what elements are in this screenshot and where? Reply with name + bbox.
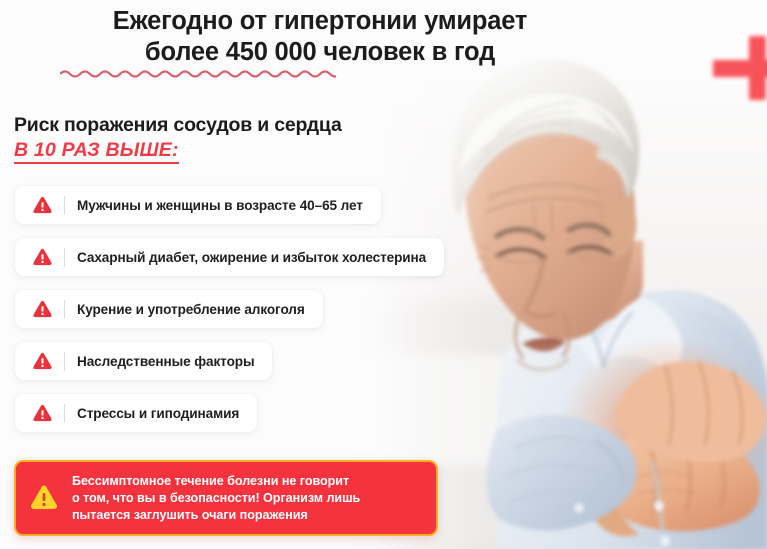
warning-triangle-icon (32, 403, 53, 424)
divider (64, 404, 65, 423)
list-item-label: Наследственные факторы (77, 354, 254, 369)
divider (64, 300, 65, 319)
warning-banner-text: Бессимптомное течение болезни не говорит… (72, 473, 360, 524)
divider (64, 196, 65, 215)
medical-cross-icon (713, 36, 767, 100)
banner-line-3: пытается заглушить очаги поражения (72, 508, 308, 522)
warning-triangle-icon (32, 247, 53, 268)
list-item[interactable]: Стрессы и гиподинамия (15, 394, 257, 432)
warning-banner: Бессимптомное течение болезни не говорит… (14, 460, 438, 536)
banner-line-1: Бессимптомное течение болезни не говорит (72, 474, 349, 488)
list-item-label: Сахарный диабет, ожирение и избыток холе… (77, 250, 426, 265)
headline-line-2: более 450 000 человек в год (145, 38, 495, 66)
list-item[interactable]: Сахарный диабет, ожирение и избыток холе… (15, 238, 444, 276)
list-item[interactable]: Наследственные факторы (15, 342, 272, 380)
page-title: Ежегодно от гипертонии умирает более 450… (0, 6, 640, 68)
subtitle: Риск поражения сосудов и сердца В 10 РАЗ… (14, 113, 344, 163)
risk-factor-list: Мужчины и женщины в возрасте 40–65 лет С… (15, 186, 444, 446)
warning-triangle-icon (32, 299, 53, 320)
subtitle-highlight: В 10 РАЗ ВЫШЕ: (14, 139, 179, 164)
divider (64, 352, 65, 371)
headline-line-1: Ежегодно от гипертонии умирает (113, 7, 527, 35)
list-item-label: Стрессы и гиподинамия (77, 406, 239, 421)
list-item-label: Мужчины и женщины в возрасте 40–65 лет (77, 198, 363, 213)
banner-line-2: о том, что вы в безопасности! Организм л… (72, 491, 360, 505)
list-item[interactable]: Мужчины и женщины в возрасте 40–65 лет (15, 186, 381, 224)
list-item[interactable]: Курение и употребление алкоголя (15, 290, 323, 328)
warning-triangle-icon (32, 351, 53, 372)
wavy-underline-icon (60, 69, 336, 78)
subtitle-text: Риск поражения сосудов и сердца (14, 114, 342, 136)
divider (64, 248, 65, 267)
warning-triangle-icon (32, 195, 53, 216)
list-item-label: Курение и употребление алкоголя (77, 302, 305, 317)
warning-triangle-icon (29, 483, 59, 513)
